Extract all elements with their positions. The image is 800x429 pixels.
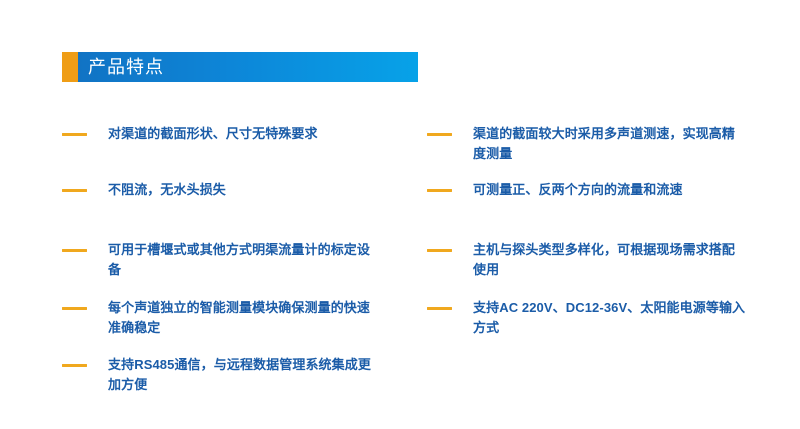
dash-bullet-icon (62, 364, 87, 367)
list-item: 对渠道的截面形状、尺寸无特殊要求 (62, 124, 382, 144)
dash-bullet-icon (62, 307, 87, 310)
list-item: 可用于槽堰式或其他方式明渠流量计的标定设备 (62, 240, 382, 280)
feature-text: 渠道的截面较大时采用多声道测速，实现高精度测量 (473, 124, 747, 164)
slide-canvas: 产品特点 对渠道的截面形状、尺寸无特殊要求 不阻流，无水头损失 可用于槽堰式或其… (0, 0, 800, 429)
dash-bullet-icon (427, 249, 452, 252)
list-item: 支持RS485通信，与远程数据管理系统集成更加方便 (62, 355, 382, 395)
list-item: 每个声道独立的智能测量模块确保测量的快速准确稳定 (62, 298, 382, 338)
list-item: 不阻流，无水头损失 (62, 180, 382, 200)
list-item: 主机与探头类型多样化，可根据现场需求搭配使用 (427, 240, 747, 280)
list-item: 渠道的截面较大时采用多声道测速，实现高精度测量 (427, 124, 747, 164)
feature-text: 支持RS485通信，与远程数据管理系统集成更加方便 (108, 355, 382, 395)
dash-bullet-icon (427, 133, 452, 136)
list-item: 支持AC 220V、DC12-36V、太阳能电源等输入方式 (427, 298, 747, 338)
dash-bullet-icon (62, 189, 87, 192)
dash-bullet-icon (427, 307, 452, 310)
page-title: 产品特点 (78, 58, 164, 76)
feature-text: 主机与探头类型多样化，可根据现场需求搭配使用 (473, 240, 747, 280)
feature-text: 不阻流，无水头损失 (108, 180, 382, 200)
header-accent-block (62, 52, 78, 82)
feature-text: 支持AC 220V、DC12-36V、太阳能电源等输入方式 (473, 298, 747, 338)
section-header: 产品特点 (62, 52, 418, 82)
feature-text: 可测量正、反两个方向的流量和流速 (473, 180, 747, 200)
feature-text: 可用于槽堰式或其他方式明渠流量计的标定设备 (108, 240, 382, 280)
list-item: 可测量正、反两个方向的流量和流速 (427, 180, 747, 200)
feature-text: 每个声道独立的智能测量模块确保测量的快速准确稳定 (108, 298, 382, 338)
feature-text: 对渠道的截面形状、尺寸无特殊要求 (108, 124, 382, 144)
dash-bullet-icon (427, 189, 452, 192)
dash-bullet-icon (62, 133, 87, 136)
header-gradient-band: 产品特点 (78, 52, 418, 82)
features-container: 对渠道的截面形状、尺寸无特殊要求 不阻流，无水头损失 可用于槽堰式或其他方式明渠… (0, 112, 800, 412)
dash-bullet-icon (62, 249, 87, 252)
